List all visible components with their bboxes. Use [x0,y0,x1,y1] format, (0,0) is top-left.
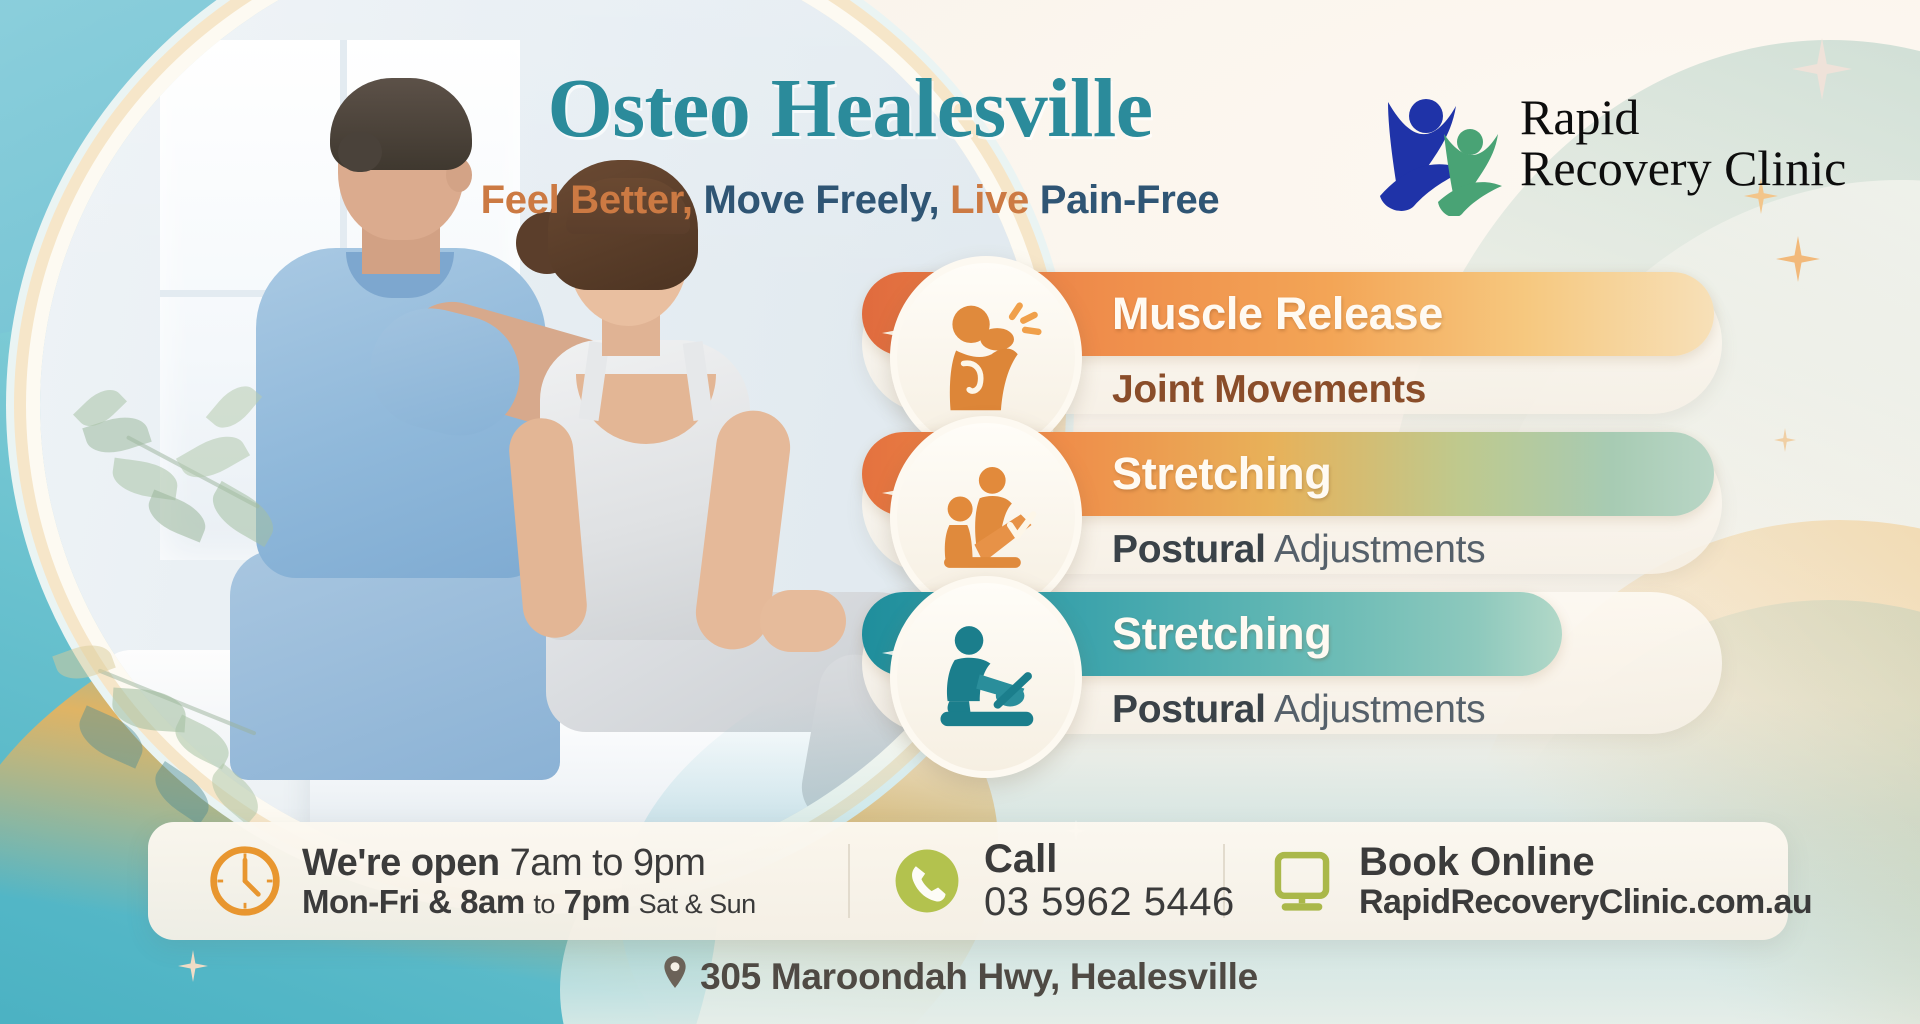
address-line: 305 Maroondah Hwy, Healesville [0,955,1920,998]
service-title: Stretching [1112,448,1332,500]
service-subtitle-rest: Joint Movements [1112,368,1426,411]
service-subtitle-bold: Postural [1112,688,1266,731]
service-title: Muscle Release [1112,288,1443,340]
logo-people-icon [1370,86,1520,216]
hours-weekday-time-end: 9pm [633,842,705,884]
phone-icon [888,842,966,920]
hours-to-2: to [533,889,555,919]
service-subtitle: Joint Movements [1112,368,1426,412]
tagline-part-4: Pain-Free [1040,178,1220,222]
service-title: Stretching [1112,608,1332,660]
services-list: Muscle Release Joint Movements [862,272,1742,752]
patient-hand [760,590,846,652]
contact-footer-bar: We're open 7am to 9pm Mon-Fri & 8am to 7… [148,822,1788,940]
location-pin-icon [662,955,688,998]
footer-call-group[interactable]: Call 03 5962 5446 [888,834,1235,928]
book-text: Book Online RapidRecoveryClinic.com.au [1359,841,1812,921]
hours-text: We're open 7am to 9pm Mon-Fri & 8am to 7… [302,843,756,920]
tagline-part-3: Live [950,178,1029,222]
hours-open-label: We're open [302,842,500,884]
address-text: 305 Maroondah Hwy, Healesville [700,956,1258,998]
hours-weekday-time: 7am [510,842,582,884]
poster-canvas: Osteo Healesville Feel Better, Move Free… [0,0,1920,1024]
call-label: Call [984,838,1235,881]
service-subtitle: Postural Adjustments [1112,688,1485,732]
service-card-stretching-1[interactable]: Stretching Postural Adjustments [862,432,1742,582]
phone-number[interactable]: 03 5962 5446 [984,881,1235,924]
service-subtitle: Postural Adjustments [1112,528,1485,572]
clock-icon [206,842,284,920]
page-title: Osteo Healesville [400,60,1300,157]
service-card-muscle-release[interactable]: Muscle Release Joint Movements [862,272,1742,422]
hours-weekend-time: 8am [460,883,525,920]
website-url[interactable]: RapidRecoveryClinic.com.au [1359,884,1812,921]
book-label: Book Online [1359,841,1812,884]
footer-hours-group: We're open 7am to 9pm Mon-Fri & 8am to 7… [206,834,756,928]
hours-weekdays: Mon-Fri & [302,883,451,920]
logo-wordmark: Rapid Recovery Clinic [1520,92,1846,194]
footer-book-group[interactable]: Book Online RapidRecoveryClinic.com.au [1263,834,1812,928]
hours-weekend-time-end: 7pm [564,883,630,920]
monitor-icon [1263,842,1341,920]
service-card-stretching-2[interactable]: Stretching Postural Adjustments [862,592,1742,742]
logo-line-1: Rapid [1520,92,1846,143]
service-subtitle-rest: Adjustments [1274,528,1485,571]
hours-weekend-days: Sat & Sun [639,889,756,919]
brand-logo[interactable]: Rapid Recovery Clinic [1370,80,1870,220]
service-subtitle-bold: Postural [1112,528,1266,571]
logo-line-2: Recovery Clinic [1520,143,1846,194]
service-subtitle-rest: Adjustments [1274,688,1485,731]
hours-to-1: to [592,842,623,884]
call-text: Call 03 5962 5446 [984,838,1235,924]
tagline-part-2: Move Freely, [704,178,940,222]
hours-line-1: We're open 7am to 9pm [302,843,756,884]
hours-line-2: Mon-Fri & 8am to 7pm Sat & Sun [302,884,756,920]
tagline: Feel Better, Move Freely, Live Pain-Free [400,178,1300,223]
massage-table-icon [890,576,1082,778]
tagline-part-1: Feel Better, [481,178,693,222]
footer-divider-1 [848,844,850,918]
